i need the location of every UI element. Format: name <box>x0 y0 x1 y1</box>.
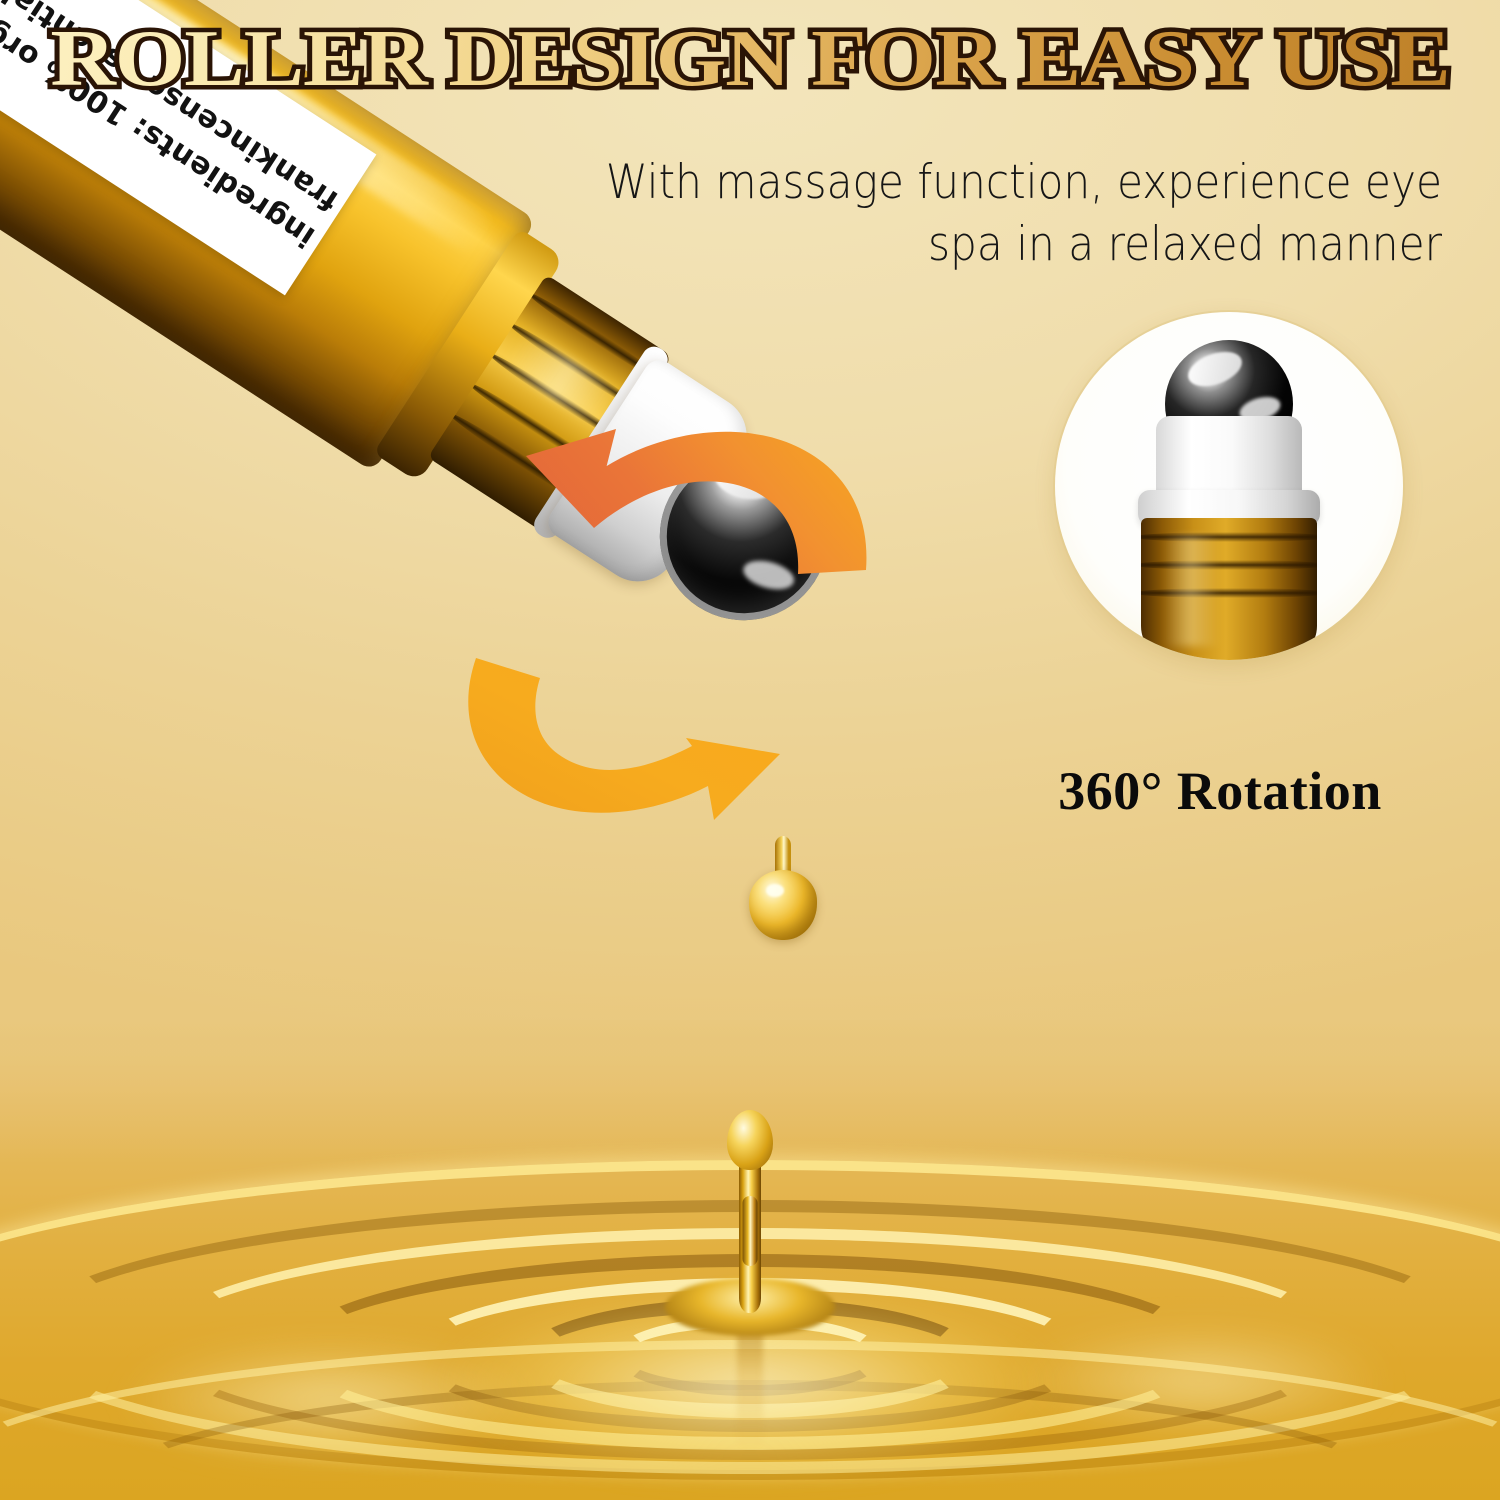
inset-neck-highlight <box>1163 536 1219 646</box>
splash-head <box>727 1110 773 1170</box>
inset-bottle-neck <box>1141 518 1317 660</box>
page-title: ROLLER DESIGN FOR EASY USE <box>0 18 1500 99</box>
roller-detail-inset <box>1055 312 1403 660</box>
rotation-arrows <box>380 420 1080 920</box>
product-infographic: ingredients: 100% organic c frankincense… <box>0 0 1500 1500</box>
inset-roller-collar <box>1156 416 1302 500</box>
subtitle-line-1: With massage function, experience eye <box>578 152 1442 214</box>
subtitle: With massage function, experience eye sp… <box>578 152 1442 276</box>
splash-waist <box>743 1196 758 1266</box>
rotation-arrow-up-right-icon <box>468 658 780 820</box>
subtitle-line-2: spa in a relaxed manner <box>578 214 1442 276</box>
rotation-caption: 360° Rotation <box>1000 760 1440 822</box>
rotation-arrow-down-left-icon <box>526 429 866 574</box>
oil-splash-column <box>720 1100 780 1330</box>
ripple-highlight-right <box>1010 1325 1390 1435</box>
